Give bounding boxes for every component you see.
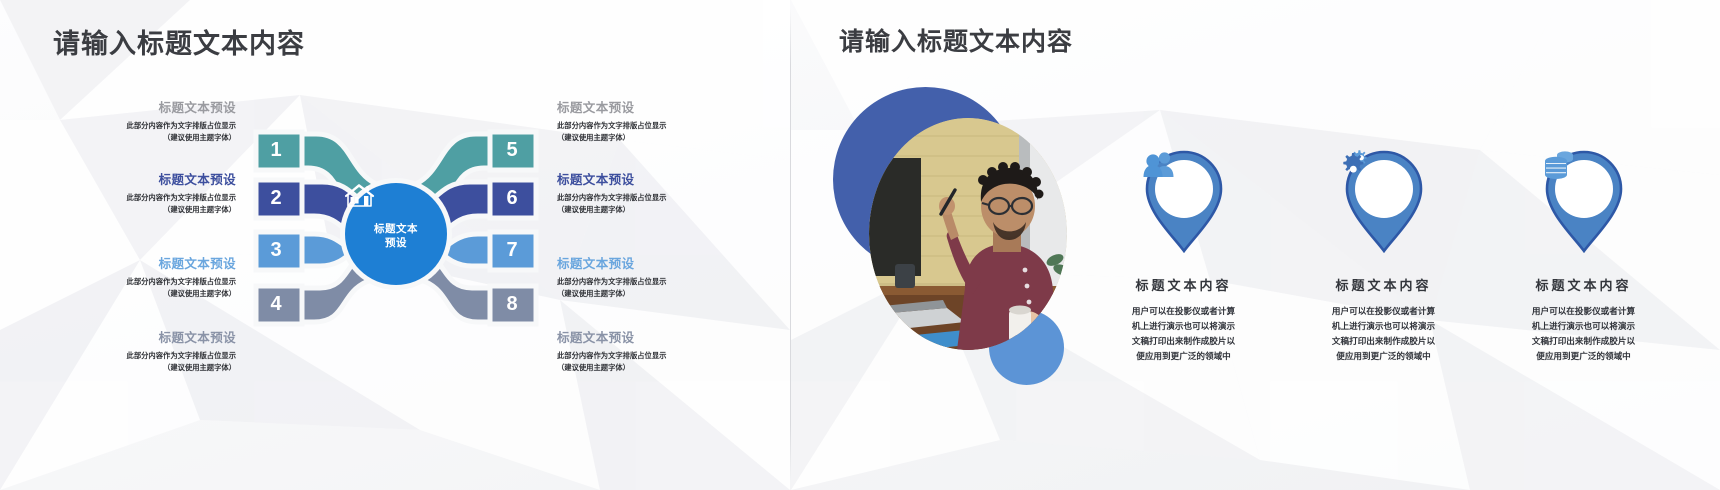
feature-body-2-line-2: 机上进行演示也可以将演示 [1291,319,1476,334]
feature-columns: 标题文本内容 用户可以在投影仪或者计算 机上进行演示也可以将演示 文稿打印出来制… [1091,150,1706,390]
ribbon-diagram: 1 2 3 4 5 6 7 8 标题文本 [236,118,556,356]
text-block-4-line-2: （建议使用主题字体） [88,362,236,374]
text-block-8: 标题文本预设 此部分内容作为文字排版占位显示 （建议使用主题字体） [557,330,705,373]
feature-column-2[interactable]: 标题文本内容 用户可以在投影仪或者计算 机上进行演示也可以将演示 文稿打印出来制… [1291,150,1476,364]
page-title-right: 请输入标题文本内容 [839,22,1073,58]
text-block-5-line-2: （建议使用主题字体） [557,132,705,144]
text-block-1: 标题文本预设 此部分内容作为文字排版占位显示 （建议使用主题字体） [88,100,236,143]
text-block-1-line-2: （建议使用主题字体） [88,132,236,144]
feature-body-3-line-4: 便应用到更广泛的领域中 [1491,349,1676,364]
feature-body-2: 用户可以在投影仪或者计算 机上进行演示也可以将演示 文稿打印出来制作成胶片以 便… [1291,304,1476,364]
text-block-7: 标题文本预设 此部分内容作为文字排版占位显示 （建议使用主题字体） [557,256,705,299]
text-block-4-line-1: 此部分内容作为文字排版占位显示 [88,350,236,362]
feature-body-3-line-3: 文稿打印出来制作成胶片以 [1491,334,1676,349]
step-number-5: 5 [498,140,526,160]
feature-heading-3: 标题文本内容 [1491,275,1676,294]
pin-marker-3[interactable] [1543,150,1625,253]
pin-marker-2[interactable] [1343,150,1425,253]
feature-column-1[interactable]: 标题文本内容 用户可以在投影仪或者计算 机上进行演示也可以将演示 文稿打印出来制… [1091,150,1276,364]
step-number-2: 2 [262,188,290,208]
step-number-8: 8 [498,294,526,314]
text-block-1-line-1: 此部分内容作为文字排版占位显示 [88,120,236,132]
feature-body-2-line-4: 便应用到更广泛的领域中 [1291,349,1476,364]
feature-heading-2: 标题文本内容 [1291,275,1476,294]
users-icon [1143,150,1225,228]
text-block-7-heading: 标题文本预设 [557,256,705,272]
feature-body-3-line-1: 用户可以在投影仪或者计算 [1491,304,1676,319]
presentation-stage: 请输入标题文本内容 标题文本预设 此部分内容作为文字排版占位显示 （建议使用主题… [0,0,1720,490]
text-block-8-line-1: 此部分内容作为文字排版占位显示 [557,350,705,362]
feature-column-3[interactable]: 标题文本内容 用户可以在投影仪或者计算 机上进行演示也可以将演示 文稿打印出来制… [1491,150,1676,364]
text-block-7-line-1: 此部分内容作为文字排版占位显示 [557,276,705,288]
feature-body-3-line-2: 机上进行演示也可以将演示 [1491,319,1676,334]
step-number-6: 6 [498,188,526,208]
hub-label-line-1: 标题文本 [374,222,418,236]
text-block-2: 标题文本预设 此部分内容作为文字排版占位显示 （建议使用主题字体） [88,172,236,215]
feature-body-1-line-1: 用户可以在投影仪或者计算 [1091,304,1276,319]
text-block-2-line-1: 此部分内容作为文字排版占位显示 [88,192,236,204]
text-block-5-line-1: 此部分内容作为文字排版占位显示 [557,120,705,132]
step-number-4: 4 [262,294,290,314]
slide-left: 请输入标题文本内容 标题文本预设 此部分内容作为文字排版占位显示 （建议使用主题… [0,0,790,490]
step-number-3: 3 [262,240,290,260]
text-block-7-line-2: （建议使用主题字体） [557,288,705,300]
meeting-photo [869,118,1067,350]
feature-body-1-line-4: 便应用到更广泛的领域中 [1091,349,1276,364]
coins-icon [1543,150,1625,228]
text-block-2-heading: 标题文本预设 [88,172,236,188]
feature-body-2-line-1: 用户可以在投影仪或者计算 [1291,304,1476,319]
text-block-6-line-1: 此部分内容作为文字排版占位显示 [557,192,705,204]
text-block-3: 标题文本预设 此部分内容作为文字排版占位显示 （建议使用主题字体） [88,256,236,299]
feature-body-2-line-3: 文稿打印出来制作成胶片以 [1291,334,1476,349]
text-block-5-heading: 标题文本预设 [557,100,705,116]
text-block-8-heading: 标题文本预设 [557,330,705,346]
photo-composition [821,85,1111,385]
feature-body-1: 用户可以在投影仪或者计算 机上进行演示也可以将演示 文稿打印出来制作成胶片以 便… [1091,304,1276,364]
text-block-1-heading: 标题文本预设 [88,100,236,116]
feature-body-1-line-2: 机上进行演示也可以将演示 [1091,319,1276,334]
text-block-5: 标题文本预设 此部分内容作为文字排版占位显示 （建议使用主题字体） [557,100,705,143]
gears-icon [1343,150,1425,228]
text-block-6-line-2: （建议使用主题字体） [557,204,705,216]
text-block-8-line-2: （建议使用主题字体） [557,362,705,374]
text-block-2-line-2: （建议使用主题字体） [88,204,236,216]
diagram-hub: 标题文本 预设 [345,183,447,285]
text-block-3-line-1: 此部分内容作为文字排版占位显示 [88,276,236,288]
text-block-4-heading: 标题文本预设 [88,330,236,346]
step-number-1: 1 [262,140,290,160]
page-title: 请输入标题文本内容 [53,22,305,61]
text-block-4: 标题文本预设 此部分内容作为文字排版占位显示 （建议使用主题字体） [88,330,236,373]
pin-marker-1[interactable] [1143,150,1225,253]
step-number-7: 7 [498,240,526,260]
slide-right: 请输入标题文本内容 [791,0,1720,490]
slide-divider [790,8,791,482]
feature-heading-1: 标题文本内容 [1091,275,1276,294]
text-block-6-heading: 标题文本预设 [557,172,705,188]
feature-body-1-line-3: 文稿打印出来制作成胶片以 [1091,334,1276,349]
text-block-6: 标题文本预设 此部分内容作为文字排版占位显示 （建议使用主题字体） [557,172,705,215]
hub-label-line-2: 预设 [385,236,407,250]
text-block-3-heading: 标题文本预设 [88,256,236,272]
text-block-3-line-2: （建议使用主题字体） [88,288,236,300]
feature-body-3: 用户可以在投影仪或者计算 机上进行演示也可以将演示 文稿打印出来制作成胶片以 便… [1491,304,1676,364]
